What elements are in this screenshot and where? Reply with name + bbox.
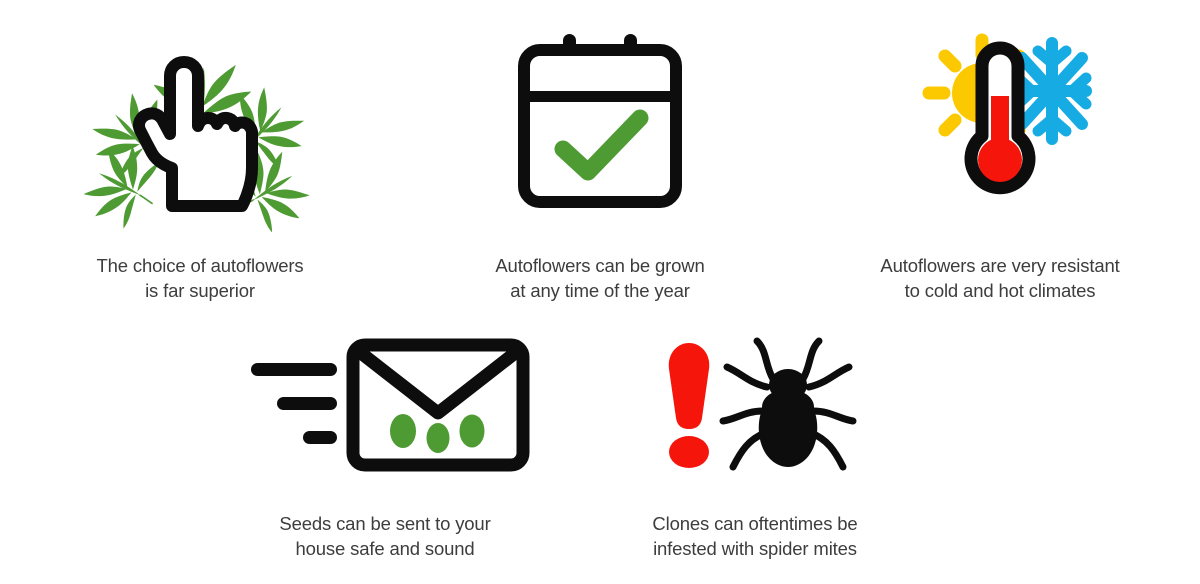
- card-climate: Autoflowers are very resistant to cold a…: [800, 18, 1200, 310]
- card-anytime: Autoflowers can be grown at any time of …: [400, 18, 800, 310]
- calendar-svg: [500, 18, 700, 218]
- warning-bug-icon: [645, 330, 865, 480]
- card-caption: Clones can oftentimes be infested with s…: [652, 512, 857, 561]
- exclamation-mark-icon: [669, 343, 710, 468]
- thermometer-sun-snowflake-icon: [890, 18, 1110, 218]
- leaves-hand-svg: [60, 18, 340, 218]
- infographic-root: The choice of autoflowers is far superio…: [0, 0, 1200, 584]
- envelope-with-seeds-icon: [235, 330, 535, 480]
- bug-icon: [723, 341, 853, 467]
- card-shipping: Seeds can be sent to your house safe and…: [200, 330, 570, 584]
- card-caption: Seeds can be sent to your house safe and…: [279, 512, 490, 561]
- pointing-hand-cursor-icon: [139, 62, 252, 206]
- cannabis-leaves-pointing-hand-icon: [60, 18, 340, 218]
- card-caption: The choice of autoflowers is far superio…: [96, 254, 303, 303]
- bug-warning-svg: [645, 335, 865, 475]
- calendar-check-icon: [500, 18, 700, 218]
- card-pests: Clones can oftentimes be infested with s…: [570, 330, 940, 584]
- card-caption: Autoflowers are very resistant to cold a…: [880, 254, 1119, 303]
- envelope-svg: [235, 335, 535, 475]
- card-caption: Autoflowers can be grown at any time of …: [495, 254, 704, 303]
- snowflake-icon: [1018, 43, 1086, 139]
- top-row: The choice of autoflowers is far superio…: [0, 0, 1200, 310]
- calendar-body: [524, 50, 676, 202]
- thermometer-svg: [890, 18, 1110, 218]
- speed-lines-icon: [251, 363, 337, 444]
- thermometer-body-icon: [971, 48, 1029, 188]
- card-choice: The choice of autoflowers is far superio…: [0, 18, 400, 310]
- bottom-row: Seeds can be sent to your house safe and…: [0, 310, 1200, 584]
